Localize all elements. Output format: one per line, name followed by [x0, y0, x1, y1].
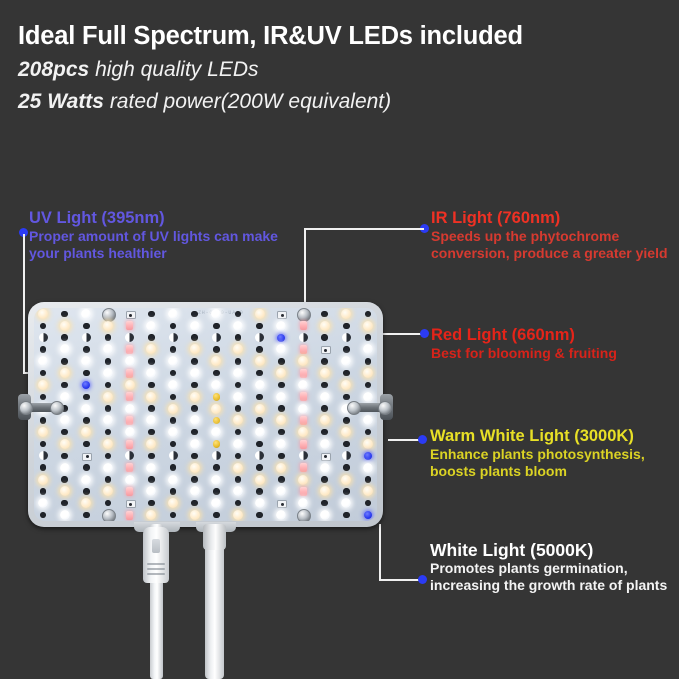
led-diode-unlit — [213, 464, 220, 471]
led-white-5000k — [342, 333, 351, 342]
led-red-660nm — [126, 463, 133, 472]
led-mount-screw — [297, 308, 311, 322]
led-red-660nm — [300, 345, 307, 354]
led-white-5000k — [168, 380, 178, 390]
led-red-660nm — [300, 321, 307, 330]
led-red-660nm — [300, 416, 307, 425]
led-white-5000k — [168, 475, 178, 485]
callout-white-light: White Light (5000K) Promotes plants germ… — [430, 540, 675, 594]
led-diode-unlit — [321, 500, 328, 507]
led-white-5000k — [190, 439, 200, 449]
led-mount-screw — [297, 509, 311, 521]
led-diode-unlit — [256, 441, 263, 448]
power-cable-connector — [143, 527, 169, 583]
led-diode-unlit — [83, 441, 90, 448]
led-red-660nm — [126, 321, 133, 330]
led-diode-unlit — [278, 405, 285, 412]
led-diode-unlit — [40, 370, 47, 377]
led-diode-unlit — [40, 512, 47, 519]
led-warm-white-3000k — [190, 463, 200, 473]
led-diode-unlit — [105, 453, 112, 460]
led-warm-white-3000k — [38, 380, 48, 390]
led-diode-unlit — [40, 346, 47, 353]
led-white-5000k — [125, 451, 134, 460]
led-warm-white-3000k — [233, 344, 243, 354]
led-white-5000k — [255, 380, 265, 390]
driver-chip — [126, 311, 136, 319]
led-diode-unlit — [40, 441, 47, 448]
led-white-5000k — [341, 498, 351, 508]
bracket-screw-inner — [50, 401, 64, 415]
callout-ir-light: IR Light (760nm) Speeds up the phytochro… — [431, 208, 679, 262]
led-warm-white-3000k — [103, 439, 113, 449]
led-red-660nm — [300, 440, 307, 449]
led-diode-unlit — [343, 346, 350, 353]
led-uv-395nm — [82, 381, 90, 389]
led-white-5000k — [255, 498, 265, 508]
led-white-5000k — [320, 463, 330, 473]
led-white-5000k — [190, 415, 200, 425]
leader-dot-warm-white — [418, 435, 427, 444]
led-white-5000k — [299, 333, 308, 342]
led-diode-unlit — [278, 453, 285, 460]
spec-wattage: 25 Watts — [18, 90, 104, 113]
led-white-5000k — [146, 368, 156, 378]
led-diode-unlit — [235, 429, 242, 436]
led-diode-unlit — [83, 464, 90, 471]
led-warm-white-3000k — [146, 392, 156, 402]
led-diode-unlit — [321, 405, 328, 412]
led-diode-unlit — [170, 394, 177, 401]
led-white-5000k — [276, 392, 286, 402]
panel-face: ZH-CB30-UA-0 — [34, 308, 377, 521]
led-diode-unlit — [40, 488, 47, 495]
header-block: Ideal Full Spectrum, IR&UV LEDs included… — [18, 20, 658, 116]
led-warm-white-3000k — [363, 368, 373, 378]
led-white-5000k — [276, 510, 286, 520]
led-diode-unlit — [235, 334, 242, 341]
led-warm-white-3000k — [103, 321, 113, 331]
led-warm-white-3000k — [168, 404, 178, 414]
led-white-5000k — [233, 321, 243, 331]
gooseneck-collar — [203, 524, 226, 550]
led-white-5000k — [233, 392, 243, 402]
callout-ir-body: Speeds up the phytochrome conversion, pr… — [431, 228, 679, 262]
led-diode-unlit — [148, 500, 155, 507]
led-red-660nm — [300, 369, 307, 378]
led-white-5000k — [190, 368, 200, 378]
led-diode-unlit — [235, 311, 242, 318]
led-warm-white-3000k — [363, 439, 373, 449]
led-diode-unlit — [343, 370, 350, 377]
led-warm-white-3000k — [81, 498, 91, 508]
driver-chip — [277, 500, 287, 508]
led-warm-white-3000k — [341, 309, 351, 319]
led-diode-unlit — [105, 429, 112, 436]
led-white-5000k — [169, 333, 178, 342]
led-red-660nm — [126, 416, 133, 425]
led-diode-unlit — [83, 370, 90, 377]
led-warm-white-3000k — [320, 368, 330, 378]
led-diode-unlit — [321, 334, 328, 341]
connector-rib — [147, 563, 165, 565]
led-white-5000k — [146, 463, 156, 473]
led-white-5000k — [211, 309, 221, 319]
led-warm-white-3000k — [320, 415, 330, 425]
led-diode-unlit — [213, 512, 220, 519]
led-white-5000k — [38, 498, 48, 508]
led-white-5000k — [298, 498, 308, 508]
led-white-5000k — [255, 451, 264, 460]
led-diode-unlit — [148, 382, 155, 389]
leader-line-white-vertical — [379, 524, 381, 581]
led-white-5000k — [125, 404, 135, 414]
led-diode-unlit — [61, 429, 68, 436]
led-white-5000k — [81, 309, 91, 319]
led-diode-unlit — [365, 311, 372, 318]
led-white-5000k — [103, 344, 113, 354]
led-diode-unlit — [256, 370, 263, 377]
led-red-660nm — [126, 511, 133, 520]
led-warm-white-3000k — [255, 309, 265, 319]
led-diode-unlit — [256, 346, 263, 353]
led-diode-unlit — [278, 382, 285, 389]
led-white-5000k — [276, 344, 286, 354]
led-warm-white-3000k — [60, 439, 70, 449]
led-white-5000k — [169, 451, 178, 460]
led-uv-395nm — [364, 511, 372, 519]
led-diode-unlit — [235, 405, 242, 412]
callout-white-body: Promotes plants germination, increasing … — [430, 560, 675, 594]
led-diode-unlit — [105, 334, 112, 341]
led-warm-white-3000k — [255, 475, 265, 485]
led-diode-unlit — [256, 394, 263, 401]
led-diode-unlit — [365, 382, 372, 389]
led-white-5000k — [190, 321, 200, 331]
led-diode-unlit — [365, 358, 372, 365]
led-warm-white-3000k — [60, 321, 70, 331]
led-diode-unlit — [191, 453, 198, 460]
callout-uv-light: UV Light (395nm) Proper amount of UV lig… — [29, 208, 279, 262]
led-diode-unlit — [105, 405, 112, 412]
led-diode-unlit — [256, 323, 263, 330]
led-warm-white-3000k — [168, 498, 178, 508]
led-white-5000k — [298, 404, 308, 414]
led-red-660nm — [300, 392, 307, 401]
led-diode-unlit — [343, 488, 350, 495]
led-diode-unlit — [235, 476, 242, 483]
led-diode-unlit — [365, 429, 372, 436]
led-diode-unlit — [40, 323, 47, 330]
led-diode-unlit — [191, 382, 198, 389]
led-white-5000k — [363, 463, 373, 473]
led-warm-white-3000k — [255, 356, 265, 366]
led-diode-unlit — [191, 358, 198, 365]
led-diode-unlit — [321, 476, 328, 483]
led-warm-white-3000k — [211, 356, 221, 366]
led-white-5000k — [363, 344, 373, 354]
led-diode-unlit — [256, 512, 263, 519]
led-white-5000k — [60, 510, 70, 520]
led-white-5000k — [39, 451, 48, 460]
led-white-5000k — [103, 368, 113, 378]
led-white-5000k — [276, 321, 286, 331]
led-warm-white-3000k — [146, 344, 156, 354]
leader-line-ir-horizontal — [304, 228, 424, 230]
spec-led-count: 208pcs — [18, 58, 89, 81]
led-diode-unlit — [321, 382, 328, 389]
led-diode-unlit — [148, 453, 155, 460]
led-warm-white-3000k — [233, 463, 243, 473]
bracket-screw-inner — [347, 401, 361, 415]
led-diode-unlit — [213, 488, 220, 495]
led-warm-white-3000k — [320, 321, 330, 331]
led-warm-white-3000k — [276, 368, 286, 378]
led-diode-unlit — [256, 464, 263, 471]
led-warm-white-3000k — [298, 356, 308, 366]
led-ir-760nm — [213, 393, 221, 401]
led-warm-white-3000k — [146, 439, 156, 449]
led-white-5000k — [81, 475, 91, 485]
led-white-5000k — [320, 510, 330, 520]
led-white-5000k — [233, 486, 243, 496]
led-diode-unlit — [61, 382, 68, 389]
led-warm-white-3000k — [363, 486, 373, 496]
led-red-660nm — [126, 345, 133, 354]
bracket-screw-outer — [378, 401, 392, 415]
spec-led-text: high quality LEDs — [89, 58, 258, 81]
led-diode-unlit — [343, 512, 350, 519]
led-warm-white-3000k — [38, 475, 48, 485]
led-white-5000k — [39, 333, 48, 342]
led-warm-white-3000k — [341, 475, 351, 485]
led-diode-unlit — [83, 346, 90, 353]
leader-dot-red — [420, 329, 429, 338]
page-title: Ideal Full Spectrum, IR&UV LEDs included — [18, 20, 658, 52]
spec-power-text: rated power(200W equivalent) — [104, 90, 391, 113]
led-warm-white-3000k — [146, 510, 156, 520]
led-warm-white-3000k — [38, 427, 48, 437]
led-warm-white-3000k — [276, 463, 286, 473]
led-diode-unlit — [61, 311, 68, 318]
led-white-5000k — [38, 356, 48, 366]
led-warm-white-3000k — [363, 321, 373, 331]
led-diode-unlit — [213, 346, 220, 353]
led-white-5000k — [212, 451, 221, 460]
led-grow-light-panel: ZH-CB30-UA-0 — [28, 302, 383, 527]
led-diode-unlit — [278, 429, 285, 436]
led-white-5000k — [211, 427, 221, 437]
driver-chip — [126, 500, 136, 508]
led-diode-unlit — [365, 476, 372, 483]
led-red-660nm — [126, 392, 133, 401]
leader-dot-white — [418, 575, 427, 584]
led-red-660nm — [300, 487, 307, 496]
led-diode-unlit — [83, 323, 90, 330]
led-diode-unlit — [256, 417, 263, 424]
led-white-5000k — [298, 380, 308, 390]
led-white-5000k — [212, 333, 221, 342]
spec-line-power: 25 Watts rated power(200W equivalent) — [18, 88, 658, 116]
callout-red-body: Best for blooming & fruiting — [431, 345, 671, 362]
driver-chip — [82, 453, 92, 461]
led-diode-unlit — [235, 382, 242, 389]
led-diode-unlit — [343, 441, 350, 448]
led-warm-white-3000k — [276, 415, 286, 425]
leader-line-uv-vertical — [23, 234, 25, 374]
led-diode-unlit — [365, 500, 372, 507]
led-white-5000k — [81, 356, 91, 366]
callout-warm-white-title: Warm White Light (3000K) — [430, 426, 679, 446]
callout-red-title: Red Light (660nm) — [431, 325, 671, 345]
led-diode-unlit — [83, 488, 90, 495]
led-warm-white-3000k — [233, 415, 243, 425]
led-white-5000k — [211, 475, 221, 485]
led-warm-white-3000k — [81, 427, 91, 437]
led-diode-unlit — [148, 429, 155, 436]
led-diode-unlit — [256, 488, 263, 495]
led-warm-white-3000k — [298, 427, 308, 437]
led-white-5000k — [103, 415, 113, 425]
led-diode-unlit — [321, 358, 328, 365]
led-diode-unlit — [213, 323, 220, 330]
led-diode-unlit — [148, 311, 155, 318]
led-warm-white-3000k — [320, 486, 330, 496]
led-diode-unlit — [105, 500, 112, 507]
led-white-5000k — [299, 451, 308, 460]
led-white-5000k — [341, 356, 351, 366]
led-warm-white-3000k — [298, 475, 308, 485]
led-diode-unlit — [235, 358, 242, 365]
led-ir-760nm — [213, 440, 221, 448]
led-diode-unlit — [148, 405, 155, 412]
callout-uv-body: Proper amount of UV lights can make your… — [29, 228, 279, 262]
led-diode-unlit — [235, 453, 242, 460]
led-uv-395nm — [277, 334, 285, 342]
led-warm-white-3000k — [211, 404, 221, 414]
led-white-5000k — [146, 321, 156, 331]
callout-warm-white-body: Enhance plants photosynthesis, boosts pl… — [430, 446, 679, 480]
led-array — [34, 308, 377, 521]
led-uv-395nm — [364, 452, 372, 460]
led-diode-unlit — [148, 476, 155, 483]
led-diode-unlit — [278, 358, 285, 365]
led-warm-white-3000k — [255, 404, 265, 414]
led-red-660nm — [126, 487, 133, 496]
led-warm-white-3000k — [190, 344, 200, 354]
led-diode-unlit — [321, 429, 328, 436]
led-white-5000k — [211, 498, 221, 508]
led-diode-unlit — [170, 464, 177, 471]
led-warm-white-3000k — [190, 392, 200, 402]
connector-window — [152, 539, 160, 553]
led-white-5000k — [276, 439, 286, 449]
led-diode-unlit — [170, 417, 177, 424]
led-white-5000k — [233, 439, 243, 449]
spec-line-leds: 208pcs high quality LEDs — [18, 56, 658, 84]
led-red-660nm — [126, 440, 133, 449]
led-ir-760nm — [213, 417, 221, 425]
led-white-5000k — [255, 427, 265, 437]
led-diode-unlit — [170, 346, 177, 353]
led-diode-unlit — [365, 334, 372, 341]
mounting-bracket-left — [18, 394, 62, 420]
callout-ir-title: IR Light (760nm) — [431, 208, 679, 228]
led-white-5000k — [103, 463, 113, 473]
led-diode-unlit — [170, 512, 177, 519]
led-warm-white-3000k — [38, 309, 48, 319]
led-diode-unlit — [191, 311, 198, 318]
led-white-5000k — [60, 344, 70, 354]
callout-uv-title: UV Light (395nm) — [29, 208, 279, 228]
led-white-5000k — [125, 333, 134, 342]
led-white-5000k — [233, 368, 243, 378]
led-mount-screw — [102, 308, 116, 322]
led-white-5000k — [320, 439, 330, 449]
led-diode-unlit — [170, 488, 177, 495]
led-diode-unlit — [235, 500, 242, 507]
led-white-5000k — [168, 427, 178, 437]
led-diode-unlit — [191, 334, 198, 341]
led-white-5000k — [342, 451, 351, 460]
led-diode-unlit — [213, 370, 220, 377]
led-white-5000k — [146, 486, 156, 496]
led-diode-unlit — [61, 500, 68, 507]
connector-rib — [147, 573, 165, 575]
led-white-5000k — [125, 356, 135, 366]
led-mount-screw — [102, 509, 116, 521]
led-white-5000k — [125, 427, 135, 437]
led-warm-white-3000k — [341, 380, 351, 390]
led-diode-unlit — [61, 334, 68, 341]
connector-rib — [147, 568, 165, 570]
led-warm-white-3000k — [103, 486, 113, 496]
led-warm-white-3000k — [60, 368, 70, 378]
callout-warm-white-light: Warm White Light (3000K) Enhance plants … — [430, 426, 679, 480]
callout-red-light: Red Light (660nm) Best for blooming & fr… — [431, 325, 671, 362]
led-red-660nm — [126, 369, 133, 378]
led-white-5000k — [276, 486, 286, 496]
mounting-bracket-right — [349, 394, 393, 420]
driver-chip — [277, 311, 287, 319]
led-white-5000k — [320, 392, 330, 402]
led-diode-unlit — [343, 323, 350, 330]
led-white-5000k — [168, 309, 178, 319]
led-diode-unlit — [61, 358, 68, 365]
led-white-5000k — [168, 356, 178, 366]
led-warm-white-3000k — [103, 392, 113, 402]
led-white-5000k — [211, 380, 221, 390]
led-warm-white-3000k — [190, 510, 200, 520]
led-warm-white-3000k — [60, 486, 70, 496]
bracket-screw-outer — [19, 401, 33, 415]
led-warm-white-3000k — [233, 510, 243, 520]
led-warm-white-3000k — [341, 427, 351, 437]
led-diode-unlit — [40, 464, 47, 471]
led-diode-unlit — [191, 476, 198, 483]
led-diode-unlit — [170, 370, 177, 377]
led-diode-unlit — [148, 358, 155, 365]
led-diode-unlit — [191, 429, 198, 436]
led-white-5000k — [60, 463, 70, 473]
led-diode-unlit — [61, 453, 68, 460]
led-diode-unlit — [83, 512, 90, 519]
led-diode-unlit — [105, 358, 112, 365]
led-diode-unlit — [105, 476, 112, 483]
led-diode-unlit — [278, 476, 285, 483]
led-diode-unlit — [83, 394, 90, 401]
led-warm-white-3000k — [125, 380, 135, 390]
